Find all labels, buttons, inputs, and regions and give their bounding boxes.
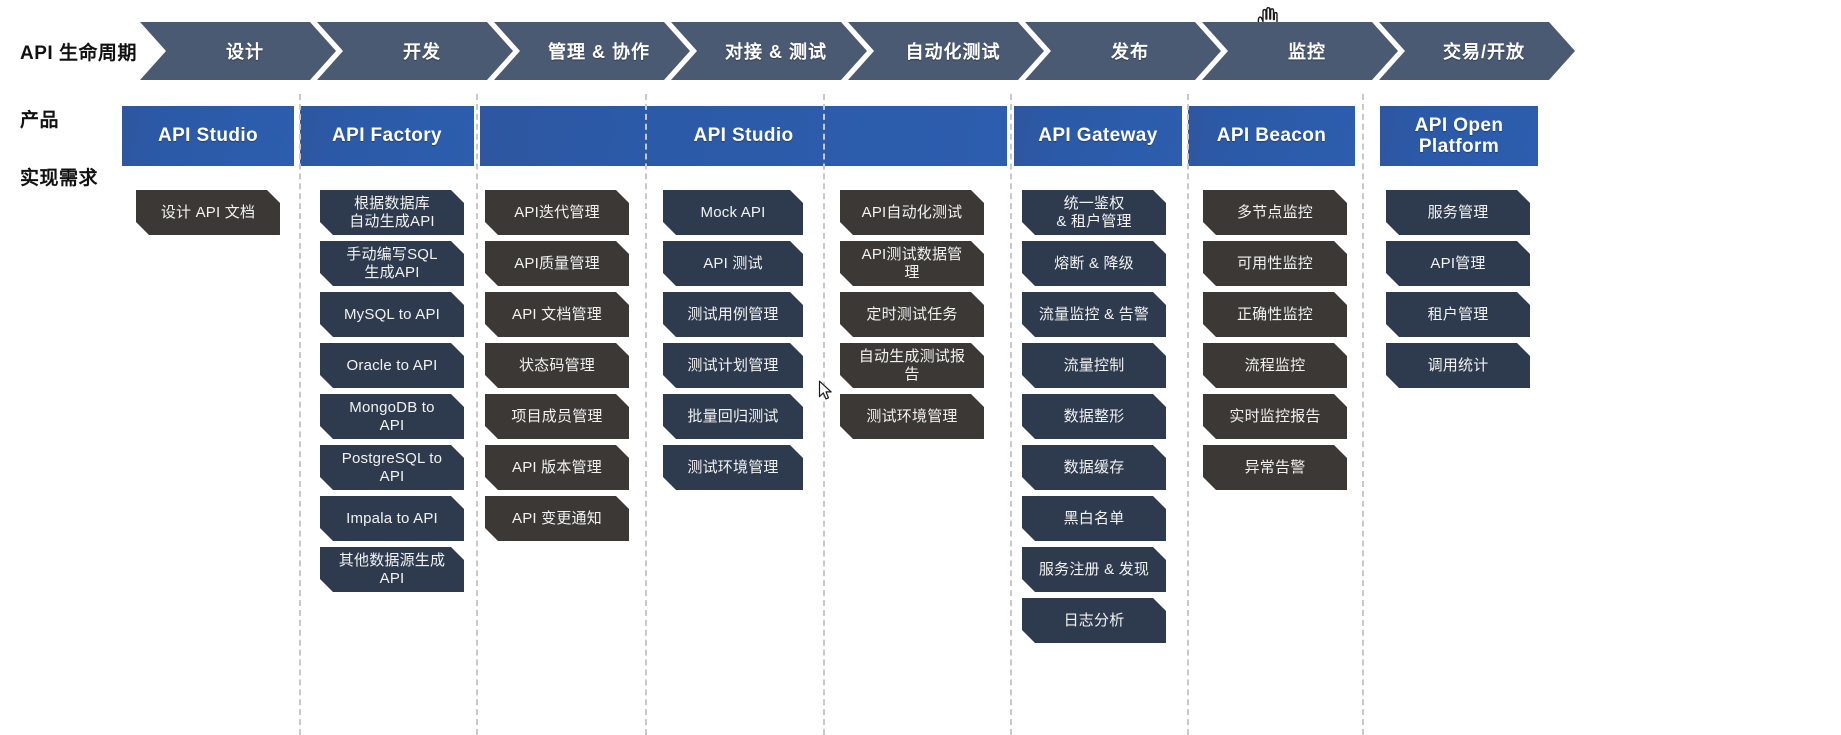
feature-card[interactable]: 测试环境管理: [840, 394, 984, 439]
feature-card[interactable]: API 文档管理: [485, 292, 629, 337]
product-bar-4[interactable]: API Gateway: [1014, 106, 1182, 166]
feature-card-label: 根据数据库自动生成API: [349, 195, 435, 229]
feature-card[interactable]: Impala to API: [320, 496, 464, 541]
feature-card-label: 手动编写SQL生成API: [346, 246, 437, 280]
feature-card[interactable]: PostgreSQL toAPI: [320, 445, 464, 490]
feature-card[interactable]: 正确性监控: [1203, 292, 1347, 337]
feature-card-label: 测试用例管理: [687, 307, 778, 323]
feature-card-label: 实时监控报告: [1229, 409, 1320, 425]
feature-card-label: 流量控制: [1064, 358, 1125, 374]
feature-card-label: API自动化测试: [862, 205, 963, 221]
column-divider-4: [823, 94, 825, 735]
lifecycle-stage-label: 交易/开放: [1443, 38, 1525, 64]
feature-card-label: 数据整形: [1064, 409, 1125, 425]
feature-card-label: 测试环境管理: [687, 460, 778, 476]
lifecycle-stage-label: 设计: [226, 38, 264, 64]
lifecycle-stage-6[interactable]: 发布: [1025, 22, 1221, 80]
feature-card[interactable]: 多节点监控: [1203, 190, 1347, 235]
feature-card-label: 测试计划管理: [687, 358, 778, 374]
lifecycle-stage-label: 管理 & 协作: [548, 38, 650, 64]
lifecycle-stage-3[interactable]: 管理 & 协作: [494, 22, 690, 80]
feature-card-label: 正确性监控: [1237, 307, 1313, 323]
feature-card[interactable]: 其他数据源生成API: [320, 547, 464, 592]
lifecycle-stage-5[interactable]: 自动化测试: [848, 22, 1044, 80]
feature-column-1: 设计 API 文档: [136, 190, 280, 241]
feature-card-label: 定时测试任务: [866, 307, 957, 323]
feature-card-label: API 文档管理: [512, 307, 602, 323]
feature-card[interactable]: MongoDB toAPI: [320, 394, 464, 439]
feature-card-label: 流量监控 & 告警: [1039, 307, 1149, 323]
feature-card[interactable]: 数据整形: [1022, 394, 1166, 439]
feature-column-4: Mock APIAPI 测试测试用例管理测试计划管理批量回归测试测试环境管理: [663, 190, 803, 496]
lifecycle-stage-row: 设计开发管理 & 协作对接 & 测试自动化测试发布监控交易/开放: [140, 22, 1825, 80]
feature-card-label: API 测试: [703, 256, 763, 272]
lifecycle-stage-label: 开发: [403, 38, 441, 64]
feature-card-label: 租户管理: [1428, 307, 1489, 323]
product-bar-3[interactable]: API Studio: [480, 106, 1007, 166]
feature-card-label: 日志分析: [1064, 613, 1125, 629]
column-divider-3: [645, 94, 647, 735]
feature-card[interactable]: 流程监控: [1203, 343, 1347, 388]
feature-card-label: 批量回归测试: [687, 409, 778, 425]
feature-card[interactable]: MySQL to API: [320, 292, 464, 337]
feature-card[interactable]: 测试环境管理: [663, 445, 803, 490]
feature-card-label: API 变更通知: [512, 511, 602, 527]
feature-card-label: PostgreSQL toAPI: [342, 450, 442, 484]
feature-card[interactable]: 批量回归测试: [663, 394, 803, 439]
feature-card-label: 统一鉴权& 租户管理: [1056, 195, 1131, 229]
feature-card[interactable]: 测试用例管理: [663, 292, 803, 337]
product-label: API Studio: [158, 125, 258, 146]
product-label: API OpenPlatform: [1415, 115, 1504, 158]
column-divider-7: [1362, 94, 1364, 735]
feature-card[interactable]: API 版本管理: [485, 445, 629, 490]
feature-card-label: 自动生成测试报告: [859, 348, 965, 382]
feature-card-label: 多节点监控: [1237, 205, 1313, 221]
feature-card[interactable]: 手动编写SQL生成API: [320, 241, 464, 286]
product-label: API Factory: [332, 125, 442, 146]
feature-card-label: API管理: [1430, 256, 1485, 272]
feature-card[interactable]: 设计 API 文档: [136, 190, 280, 235]
feature-card-label: API测试数据管理: [862, 246, 963, 280]
feature-card-label: Mock API: [701, 205, 766, 221]
product-bar-5[interactable]: API Beacon: [1188, 106, 1355, 166]
feature-card[interactable]: 服务注册 & 发现: [1022, 547, 1166, 592]
feature-card[interactable]: 流量监控 & 告警: [1022, 292, 1166, 337]
feature-card-label: 数据缓存: [1064, 460, 1125, 476]
feature-card[interactable]: 自动生成测试报告: [840, 343, 984, 388]
feature-card-label: 服务管理: [1428, 205, 1489, 221]
feature-card-label: 设计 API 文档: [161, 205, 255, 221]
feature-card[interactable]: API自动化测试: [840, 190, 984, 235]
feature-column-5: API自动化测试API测试数据管理定时测试任务自动生成测试报告测试环境管理: [840, 190, 984, 445]
product-bar-1[interactable]: API Studio: [122, 106, 294, 166]
feature-card[interactable]: API 测试: [663, 241, 803, 286]
feature-card-label: Oracle to API: [347, 358, 438, 374]
feature-card-label: 流程监控: [1245, 358, 1306, 374]
feature-card[interactable]: 服务管理: [1386, 190, 1530, 235]
feature-card[interactable]: 根据数据库自动生成API: [320, 190, 464, 235]
feature-card-label: 测试环境管理: [866, 409, 957, 425]
lifecycle-stage-7[interactable]: 监控: [1202, 22, 1398, 80]
feature-card[interactable]: 黑白名单: [1022, 496, 1166, 541]
feature-card[interactable]: 可用性监控: [1203, 241, 1347, 286]
feature-card[interactable]: 统一鉴权& 租户管理: [1022, 190, 1166, 235]
feature-card-label: 状态码管理: [519, 358, 595, 374]
feature-card-label: 异常告警: [1245, 460, 1306, 476]
feature-card[interactable]: 定时测试任务: [840, 292, 984, 337]
feature-card[interactable]: Oracle to API: [320, 343, 464, 388]
feature-card[interactable]: API迭代管理: [485, 190, 629, 235]
feature-card[interactable]: API管理: [1386, 241, 1530, 286]
feature-column-8: 服务管理API管理租户管理调用统计: [1386, 190, 1530, 394]
column-divider-1: [299, 94, 301, 735]
feature-card-label: 可用性监控: [1237, 256, 1313, 272]
feature-card-label: 熔断 & 降级: [1054, 256, 1134, 272]
arrow-pointer-cursor: [818, 380, 834, 407]
feature-card[interactable]: 日志分析: [1022, 598, 1166, 643]
lifecycle-stage-label: 发布: [1111, 38, 1149, 64]
column-divider-2: [476, 94, 478, 735]
lifecycle-stage-label: 监控: [1288, 38, 1326, 64]
feature-card-label: Impala to API: [346, 511, 438, 527]
feature-card[interactable]: 异常告警: [1203, 445, 1347, 490]
feature-card[interactable]: 数据缓存: [1022, 445, 1166, 490]
product-label: API Gateway: [1038, 125, 1158, 146]
product-label: API Beacon: [1217, 125, 1327, 146]
feature-card-label: API迭代管理: [514, 205, 600, 221]
row-label-features: 实现需求: [20, 163, 98, 190]
feature-column-2: 根据数据库自动生成API手动编写SQL生成APIMySQL to APIOrac…: [320, 190, 464, 598]
feature-card-label: API质量管理: [514, 256, 600, 272]
feature-card-label: MongoDB toAPI: [349, 399, 434, 433]
feature-card[interactable]: API 变更通知: [485, 496, 629, 541]
row-label-lifecycle: API 生命周期: [20, 38, 137, 65]
feature-column-7: 多节点监控可用性监控正确性监控流程监控实时监控报告异常告警: [1203, 190, 1347, 496]
lifecycle-stage-2[interactable]: 开发: [317, 22, 513, 80]
feature-card-label: 项目成员管理: [511, 409, 602, 425]
diagram-canvas: API 生命周期 产品 实现需求 设计开发管理 & 协作对接 & 测试自动化测试…: [0, 0, 1841, 735]
feature-card[interactable]: 流量控制: [1022, 343, 1166, 388]
feature-card[interactable]: 调用统计: [1386, 343, 1530, 388]
lifecycle-stage-8[interactable]: 交易/开放: [1379, 22, 1575, 80]
product-row: API StudioAPI FactoryAPI StudioAPI Gatew…: [0, 106, 1841, 166]
feature-card[interactable]: 项目成员管理: [485, 394, 629, 439]
lifecycle-stage-1[interactable]: 设计: [140, 22, 336, 80]
lifecycle-stage-4[interactable]: 对接 & 测试: [671, 22, 867, 80]
feature-card-label: 其他数据源生成API: [339, 552, 445, 586]
product-bar-6[interactable]: API OpenPlatform: [1380, 106, 1538, 166]
feature-column-3: API迭代管理API质量管理API 文档管理状态码管理项目成员管理API 版本管…: [485, 190, 629, 547]
lifecycle-stage-label: 对接 & 测试: [725, 38, 827, 64]
feature-card[interactable]: API测试数据管理: [840, 241, 984, 286]
column-divider-5: [1010, 94, 1012, 735]
feature-card-label: 调用统计: [1428, 358, 1489, 374]
product-label: API Studio: [693, 125, 793, 146]
feature-card[interactable]: 租户管理: [1386, 292, 1530, 337]
feature-card[interactable]: 状态码管理: [485, 343, 629, 388]
feature-card[interactable]: 实时监控报告: [1203, 394, 1347, 439]
column-divider-6: [1187, 94, 1189, 735]
feature-card-label: MySQL to API: [344, 307, 440, 323]
feature-card-label: 黑白名单: [1064, 511, 1125, 527]
lifecycle-stage-label: 自动化测试: [906, 38, 1001, 64]
feature-card-label: API 版本管理: [512, 460, 602, 476]
product-bar-2[interactable]: API Factory: [300, 106, 474, 166]
feature-column-6: 统一鉴权& 租户管理熔断 & 降级流量监控 & 告警流量控制数据整形数据缓存黑白…: [1022, 190, 1166, 649]
feature-card[interactable]: 测试计划管理: [663, 343, 803, 388]
feature-card-label: 服务注册 & 发现: [1039, 562, 1149, 578]
feature-card[interactable]: Mock API: [663, 190, 803, 235]
feature-card[interactable]: API质量管理: [485, 241, 629, 286]
feature-card[interactable]: 熔断 & 降级: [1022, 241, 1166, 286]
